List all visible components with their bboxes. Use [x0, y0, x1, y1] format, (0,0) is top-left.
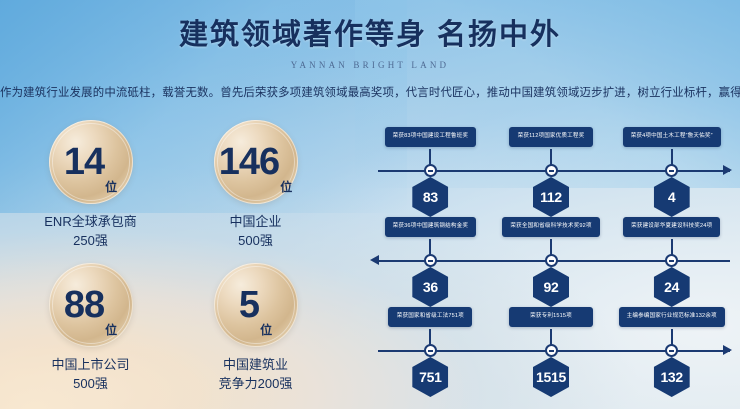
stat-label-line1: 中国上市公司	[8, 356, 173, 375]
timeline-node-icon	[665, 254, 678, 267]
timeline-items: 荣获36项中国建筑钢结构金奖36荣获全国和省级科学技术奖92项92荣获建设部华夏…	[370, 214, 732, 304]
timeline-item[interactable]: 荣获专利1515项1515	[491, 304, 612, 394]
marker-number: 1515	[536, 369, 566, 385]
stat-number: 88	[64, 286, 104, 324]
timeline-row: 荣获83项中国建设工程鲁班奖83荣获112项国家优质工程奖112荣获4项中国土木…	[370, 124, 732, 214]
marker-number: 132	[660, 369, 682, 385]
timeline-marker: 132	[654, 357, 690, 397]
marker-number: 36	[423, 279, 438, 295]
stat-card: 88位中国上市公司500强	[8, 263, 173, 394]
stat-unit: 位	[105, 321, 117, 338]
stat-label-line2: 500强	[173, 232, 338, 251]
stat-circle-badge: 146位	[214, 120, 298, 204]
achievement-card[interactable]: 主编参编国家行业规范标准132余项	[619, 307, 725, 327]
hexagon-badge-icon: 24	[654, 267, 690, 307]
achievement-card[interactable]: 荣获国家和省级工法751项	[388, 307, 472, 327]
timeline-marker: 92	[533, 267, 569, 307]
stat-unit: 位	[260, 321, 272, 338]
achievement-card[interactable]: 荣获36项中国建筑钢结构金奖	[385, 217, 476, 237]
achievement-card[interactable]: 荣获4项中国土木工程“詹天佑奖”	[623, 127, 721, 147]
hexagon-badge-icon: 1515	[533, 357, 569, 397]
marker-number: 112	[540, 189, 562, 205]
timeline-item[interactable]: 荣获36项中国建筑钢结构金奖36	[370, 214, 491, 304]
stat-label-line2: 500强	[8, 375, 173, 394]
stat-card: 146位中国企业500强	[173, 120, 338, 251]
stat-number: 14	[64, 143, 104, 181]
timeline-marker: 112	[533, 177, 569, 217]
stat-label: ENR全球承包商250强	[8, 213, 173, 251]
stat-label: 中国建筑业竞争力200强	[173, 356, 338, 394]
timeline-node-icon	[665, 164, 678, 177]
timeline-marker: 24	[654, 267, 690, 307]
timeline-node-icon	[545, 254, 558, 267]
page-title: 建筑领域著作等身 名扬中外	[0, 17, 740, 53]
timeline-items: 荣获83项中国建设工程鲁班奖83荣获112项国家优质工程奖112荣获4项中国土木…	[370, 124, 732, 214]
stats-grid: 14位ENR全球承包商250强146位中国企业500强88位中国上市公司500强…	[8, 120, 338, 393]
timeline-item[interactable]: 荣获建设部华夏建设科技奖24项24	[611, 214, 732, 304]
stat-label-line1: 中国企业	[173, 213, 338, 232]
hexagon-badge-icon: 132	[654, 357, 690, 397]
timeline-node-icon	[424, 254, 437, 267]
timeline-node-icon	[665, 344, 678, 357]
hexagon-badge-icon: 751	[412, 357, 448, 397]
timeline-node-icon	[424, 344, 437, 357]
timeline-item[interactable]: 荣获国家和省级工法751项751	[370, 304, 491, 394]
timeline-row: 荣获36项中国建筑钢结构金奖36荣获全国和省级科学技术奖92项92荣获建设部华夏…	[370, 214, 732, 304]
stat-label-line1: ENR全球承包商	[8, 213, 173, 232]
timeline-marker: 83	[412, 177, 448, 217]
timeline-item[interactable]: 荣获112项国家优质工程奖112	[491, 124, 612, 214]
achievement-card[interactable]: 荣获全国和省级科学技术奖92项	[502, 217, 599, 237]
stat-number: 146	[219, 143, 279, 181]
hexagon-badge-icon: 83	[412, 177, 448, 217]
achievement-card[interactable]: 荣获建设部华夏建设科技奖24项	[623, 217, 720, 237]
timeline-item[interactable]: 荣获全国和省级科学技术奖92项92	[491, 214, 612, 304]
stat-label-line1: 中国建筑业	[173, 356, 338, 375]
timeline-node-icon	[545, 344, 558, 357]
stat-number: 5	[239, 286, 259, 324]
marker-number: 751	[419, 369, 441, 385]
timeline-marker: 1515	[533, 357, 569, 397]
achievement-card[interactable]: 荣获83项中国建设工程鲁班奖	[385, 127, 476, 147]
stat-card: 5位中国建筑业竞争力200强	[173, 263, 338, 394]
stat-circle-badge: 14位	[49, 120, 133, 204]
timeline-node-icon	[545, 164, 558, 177]
timeline-item[interactable]: 荣获83项中国建设工程鲁班奖83	[370, 124, 491, 214]
achievements-timeline: 荣获83项中国建设工程鲁班奖83荣获112项国家优质工程奖112荣获4项中国土木…	[370, 124, 732, 400]
achievement-card[interactable]: 荣获专利1515项	[509, 307, 593, 327]
timeline-marker: 4	[654, 177, 690, 217]
stat-unit: 位	[105, 178, 117, 195]
timeline-row: 荣获国家和省级工法751项751荣获专利1515项1515主编参编国家行业规范标…	[370, 304, 732, 394]
header-section: 建筑领域著作等身 名扬中外 YANNAN BRIGHT LAND 作为建筑行业发…	[0, 0, 740, 100]
page-subtitle: YANNAN BRIGHT LAND	[0, 60, 740, 70]
hexagon-badge-icon: 36	[412, 267, 448, 307]
hexagon-badge-icon: 92	[533, 267, 569, 307]
description-text: 作为建筑行业发展的中流砥柱，载誉无数。曾先后荣获多项建筑领域最高奖项，代言时代匠…	[0, 84, 740, 100]
stat-unit: 位	[280, 178, 292, 195]
marker-number: 24	[664, 279, 679, 295]
timeline-marker: 751	[412, 357, 448, 397]
stat-circle-badge: 5位	[214, 263, 298, 347]
marker-number: 83	[423, 189, 438, 205]
stat-label: 中国上市公司500强	[8, 356, 173, 394]
marker-number: 92	[544, 279, 559, 295]
timeline-node-icon	[424, 164, 437, 177]
timeline-item[interactable]: 主编参编国家行业规范标准132余项132	[611, 304, 732, 394]
hexagon-badge-icon: 4	[654, 177, 690, 217]
stat-label-line2: 250强	[8, 232, 173, 251]
stat-label-line2: 竞争力200强	[173, 375, 338, 394]
achievement-card[interactable]: 荣获112项国家优质工程奖	[509, 127, 593, 147]
timeline-items: 荣获国家和省级工法751项751荣获专利1515项1515主编参编国家行业规范标…	[370, 304, 732, 394]
timeline-marker: 36	[412, 267, 448, 307]
timeline-item[interactable]: 荣获4项中国土木工程“詹天佑奖”4	[611, 124, 732, 214]
hexagon-badge-icon: 112	[533, 177, 569, 217]
stat-circle-badge: 88位	[49, 263, 133, 347]
stat-card: 14位ENR全球承包商250强	[8, 120, 173, 251]
stat-label: 中国企业500强	[173, 213, 338, 251]
marker-number: 4	[668, 189, 676, 205]
